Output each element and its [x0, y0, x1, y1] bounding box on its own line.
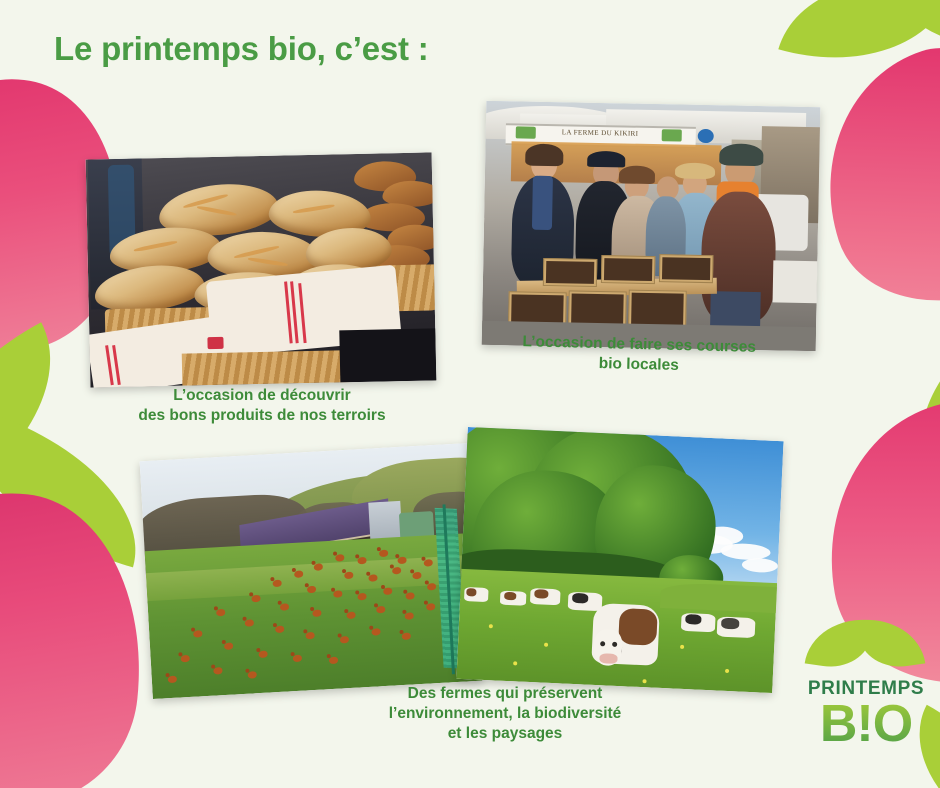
leaf-icon-top-right-right	[884, 0, 940, 79]
market-banner-text: LA FERME DU KIKIRI	[562, 128, 639, 137]
page-title: Le printemps bio, c’est :	[54, 30, 429, 68]
chickens-photo-image	[140, 443, 483, 699]
petal-shape-left-bottom	[0, 478, 157, 788]
poster-canvas: Le printemps bio, c’est :	[0, 0, 940, 788]
logo-leaves	[800, 612, 932, 674]
market-caption: L’occasion de faire ses courses bio loca…	[474, 331, 805, 379]
leaf-icon-right-middle	[881, 332, 940, 481]
leaf-icon-top-right-left	[778, 0, 940, 91]
cows-photo	[456, 427, 783, 693]
market-photo: LA FERME DU KIKIRI	[482, 101, 821, 351]
leaf-icon-logo-right	[857, 612, 926, 672]
logo-bio-text: B!O	[800, 700, 932, 750]
bread-photo-image	[86, 152, 437, 387]
leaf-icon-left-upper	[0, 322, 97, 515]
printemps-bio-logo[interactable]: PRINTEMPS B!O	[800, 612, 932, 764]
market-photo-image: LA FERME DU KIKIRI	[482, 101, 821, 351]
leaf-icon-left-lower	[0, 407, 163, 568]
bread-photo	[86, 152, 437, 387]
chickens-photo	[140, 443, 483, 699]
farms-caption: Des fermes qui préservent l’environnemen…	[340, 684, 670, 743]
cows-photo-image	[456, 427, 783, 693]
bread-caption: L’occasion de découvrir des bons produit…	[86, 386, 438, 426]
